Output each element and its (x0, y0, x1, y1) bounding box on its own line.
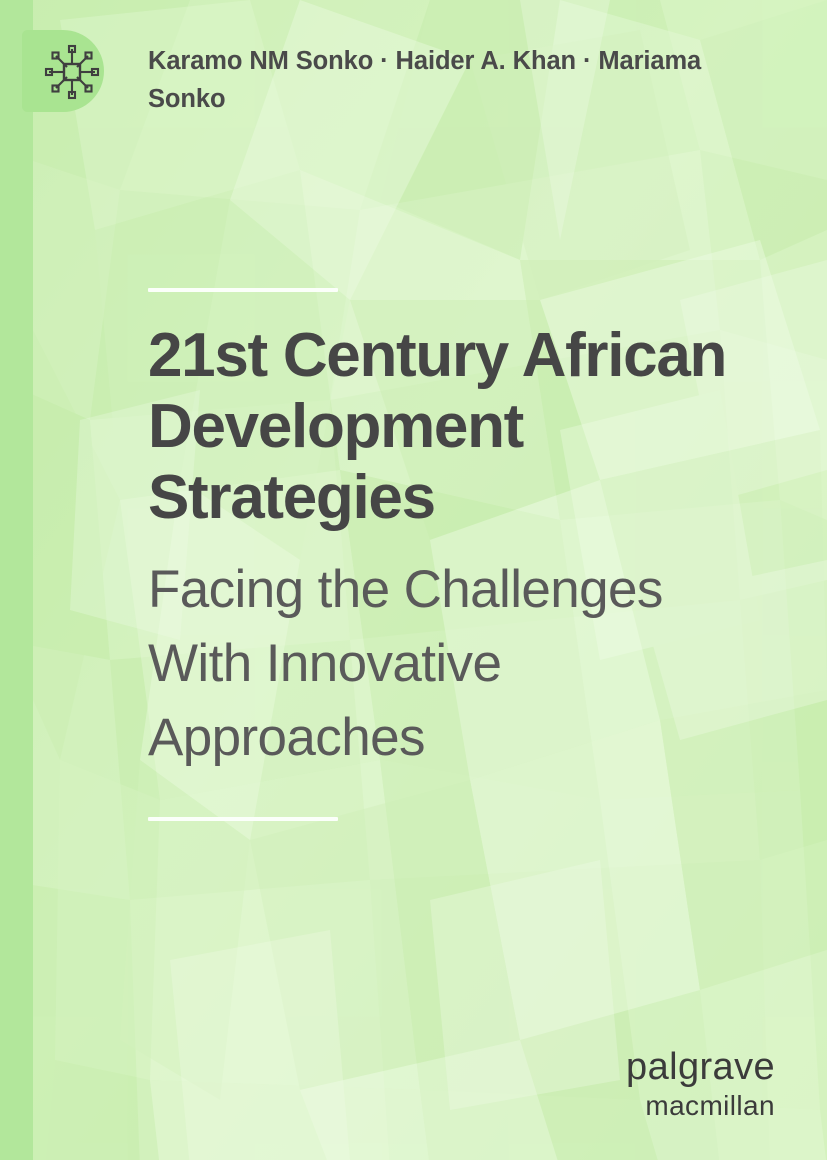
publisher-wordmark: palgrave macmillan (626, 1048, 775, 1122)
title-rule-bottom (148, 817, 338, 821)
palgrave-radiating-square-icon (44, 44, 100, 100)
book-subtitle: Facing the Challenges With Innovative Ap… (148, 553, 758, 775)
publisher-name-secondary: macmillan (626, 1090, 775, 1122)
publisher-name-primary: palgrave (626, 1048, 775, 1086)
book-cover: Karamo NM Sonko · Haider A. Khan · Maria… (0, 0, 827, 1168)
title-block: 21st Century African Development Strateg… (148, 288, 788, 821)
book-title: 21st Century African Development Strateg… (148, 320, 778, 533)
author-names: Karamo NM Sonko · Haider A. Khan · Maria… (148, 42, 708, 118)
title-rule-top (148, 288, 338, 292)
bottom-edge-sliver (0, 1160, 827, 1168)
spine-strip (0, 0, 33, 1160)
